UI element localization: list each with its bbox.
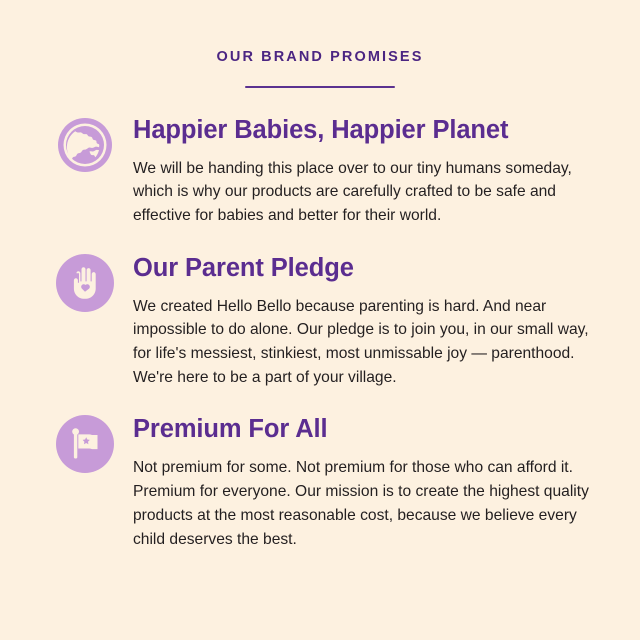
list-item: Our Parent Pledge We created Hello Bello…: [0, 254, 640, 390]
hand-heart-icon: [56, 254, 114, 312]
list-item-body: Not premium for some. Not premium for th…: [133, 456, 590, 551]
list-item-title: Premium For All: [133, 415, 590, 443]
list-item: Happier Babies, Happier Planet We will b…: [0, 116, 640, 228]
brand-promises-page: OUR BRAND PROMISES Happier Babies, Happi…: [0, 0, 640, 640]
promises-list: Happier Babies, Happier Planet We will b…: [0, 116, 640, 552]
list-item-body: We created Hello Bello because parenting…: [133, 295, 590, 390]
page-title: OUR BRAND PROMISES: [0, 50, 640, 65]
list-item-title: Happier Babies, Happier Planet: [133, 116, 590, 144]
list-item-title: Our Parent Pledge: [133, 254, 590, 282]
title-divider: [245, 86, 395, 88]
flag-star-icon: [56, 415, 114, 473]
list-item-body: We will be handing this place over to ou…: [133, 157, 590, 228]
globe-icon: [56, 116, 114, 174]
page-header: OUR BRAND PROMISES: [0, 0, 640, 88]
list-item: Premium For All Not premium for some. No…: [0, 415, 640, 551]
